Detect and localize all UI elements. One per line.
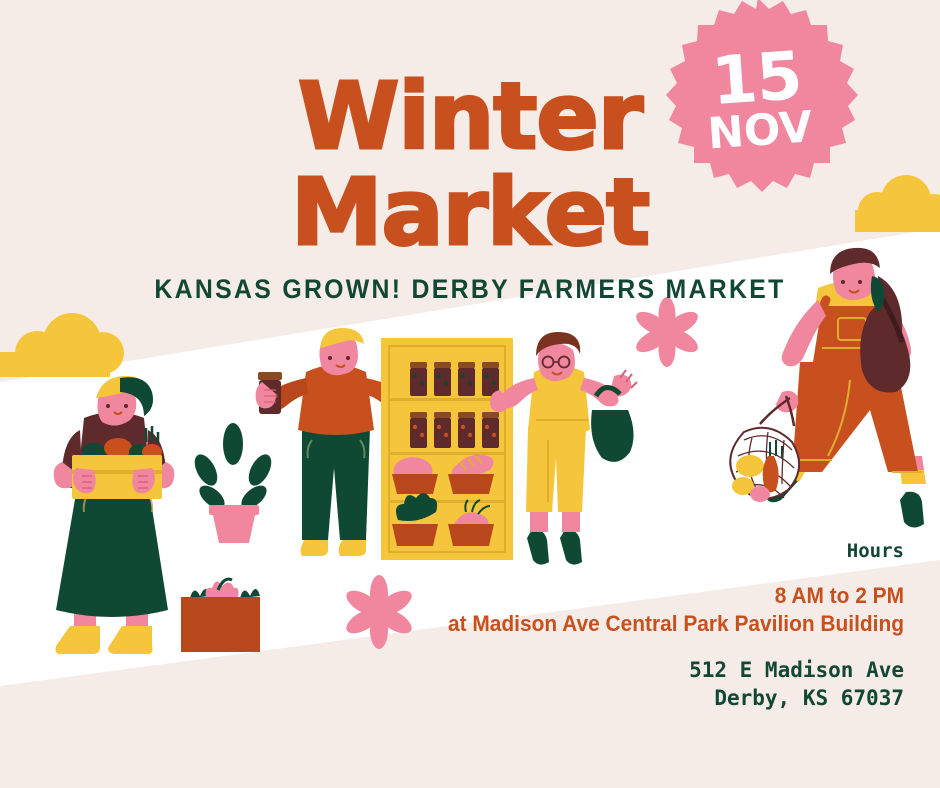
poster-canvas: 15 NOV Winter Market KANSAS GROWN! DERBY…: [0, 0, 940, 788]
date-badge: 15 NOV: [650, 0, 866, 208]
address-line-1: 512 E Madison Ave: [344, 657, 904, 684]
badge-month: NOV: [707, 109, 814, 155]
badge-text-group: 15 NOV: [643, 0, 874, 215]
badge-day: 15: [710, 46, 804, 112]
produce-crate: [181, 579, 260, 652]
address-line-2: Derby, KS 67037: [344, 685, 904, 712]
market-shelf: [381, 338, 513, 560]
figure-woman-with-mesh-bag: [730, 248, 926, 528]
hours-label: Hours: [344, 540, 904, 562]
venue-name: at Madison Ave Central Park Pavilion Bui…: [372, 610, 904, 638]
potted-plant: [190, 423, 276, 543]
figure-woman-with-crate: [54, 376, 175, 654]
info-block: Hours 8 AM to 2 PM at Madison Ave Centra…: [344, 540, 904, 712]
hours-value: 8 AM to 2 PM: [372, 582, 904, 610]
